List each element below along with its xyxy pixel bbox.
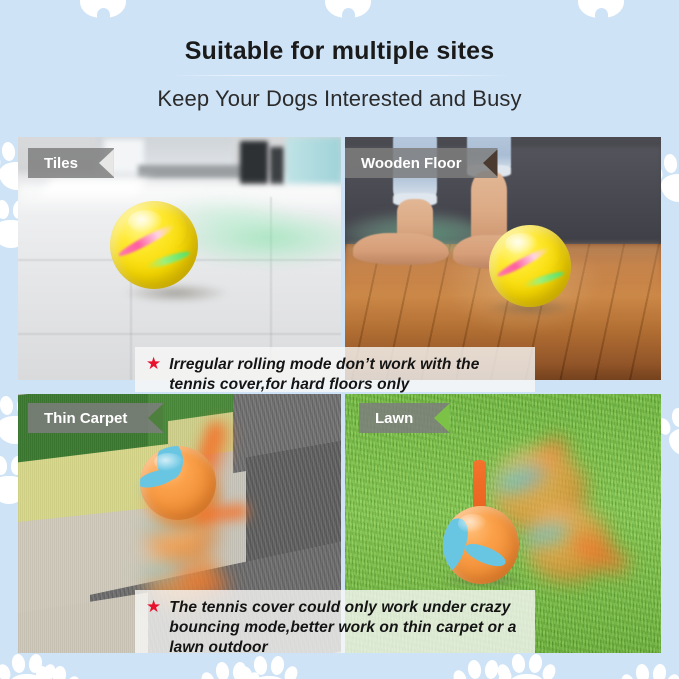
star-icon: ★ — [146, 355, 161, 373]
badge-label: Lawn — [375, 410, 413, 427]
yellow-ball — [110, 201, 198, 289]
badge-wooden-floor: Wooden Floor — [345, 148, 498, 178]
yellow-ball — [489, 225, 571, 307]
orange-ball — [140, 446, 216, 520]
caption-text: The tennis cover could only work under c… — [169, 598, 525, 657]
caption-hard-floors: ★ Irregular rolling mode don’t work with… — [135, 347, 535, 392]
badge-label: Tiles — [44, 155, 78, 172]
caption-tennis-cover: ★ The tennis cover could only work under… — [135, 590, 535, 653]
foot-left — [353, 233, 449, 265]
badge-lawn: Lawn — [359, 403, 449, 433]
caption-text: Irregular rolling mode don’t work with t… — [169, 355, 525, 395]
paw-print-icon — [0, 650, 58, 679]
badge-tiles: Tiles — [28, 148, 114, 178]
orange-ball — [443, 506, 519, 584]
badge-label: Wooden Floor — [361, 155, 462, 172]
page-title: Suitable for multiple sites — [0, 37, 679, 66]
paw-print-icon — [20, 662, 82, 679]
paw-print-icon — [452, 656, 514, 679]
page-subtitle: Keep Your Dogs Interested and Busy — [0, 86, 679, 112]
photo-wooden-floor: Wooden Floor — [345, 137, 661, 380]
badge-label: Thin Carpet — [44, 410, 127, 427]
paw-print-icon — [620, 660, 679, 679]
header: Suitable for multiple sites Keep Your Do… — [0, 0, 679, 112]
photo-tiles: Tiles — [18, 137, 341, 380]
badge-thin-carpet: Thin Carpet — [28, 403, 163, 433]
title-divider — [170, 75, 510, 76]
promo-image: Suitable for multiple sites Keep Your Do… — [0, 0, 679, 679]
star-icon: ★ — [146, 598, 161, 616]
paw-print-icon — [200, 658, 262, 679]
